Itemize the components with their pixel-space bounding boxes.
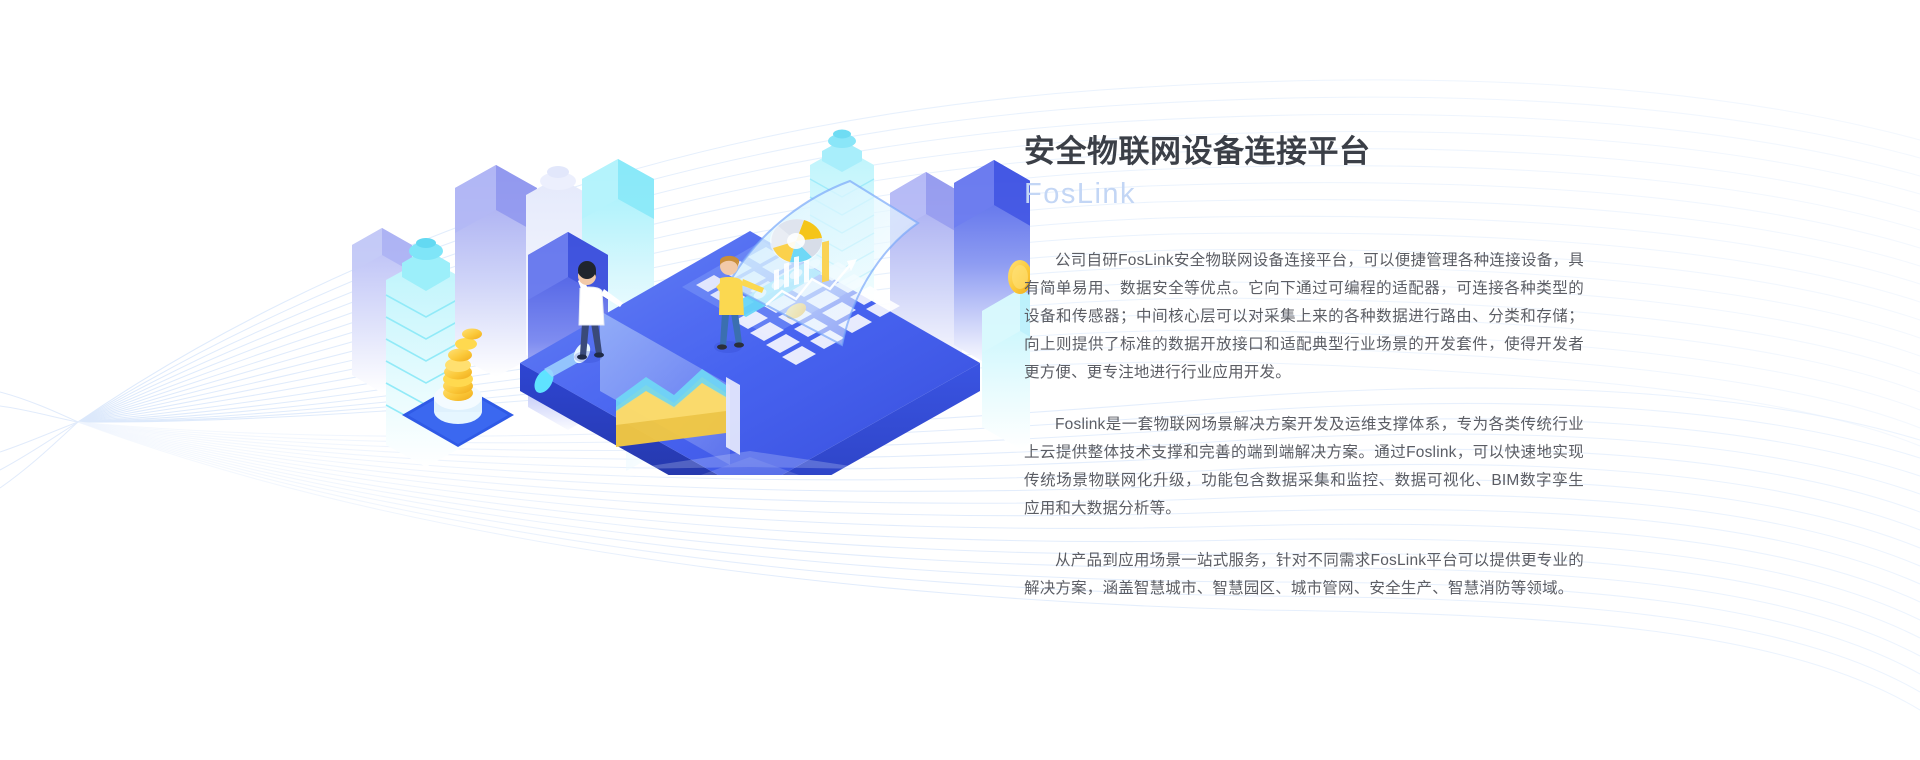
content-column: 安全物联网设备连接平台 FosLink 公司自研FosLink安全物联网设备连接…	[1024, 132, 1604, 603]
product-name-subtitle: FosLink	[1024, 174, 1604, 214]
screen-pie-chart	[770, 219, 822, 263]
paragraph-3: 从产品到应用场景一站式服务，针对不同需求FosLink平台可以提供更专业的解决方…	[1024, 547, 1584, 603]
page-title: 安全物联网设备连接平台	[1024, 132, 1604, 172]
isometric-illustration	[330, 55, 1030, 475]
description-block: 公司自研FosLink安全物联网设备连接平台，可以便捷管理各种连接设备，具有简单…	[1024, 247, 1584, 603]
paragraph-1: 公司自研FosLink安全物联网设备连接平台，可以便捷管理各种连接设备，具有简单…	[1024, 247, 1584, 387]
page-root: 安全物联网设备连接平台 FosLink 公司自研FosLink安全物联网设备连接…	[0, 0, 1920, 760]
paragraph-2: Foslink是一套物联网场景解决方案开发及运维支撑体系，专为各类传统行业上云提…	[1024, 411, 1584, 523]
platform-reflection	[570, 451, 930, 475]
